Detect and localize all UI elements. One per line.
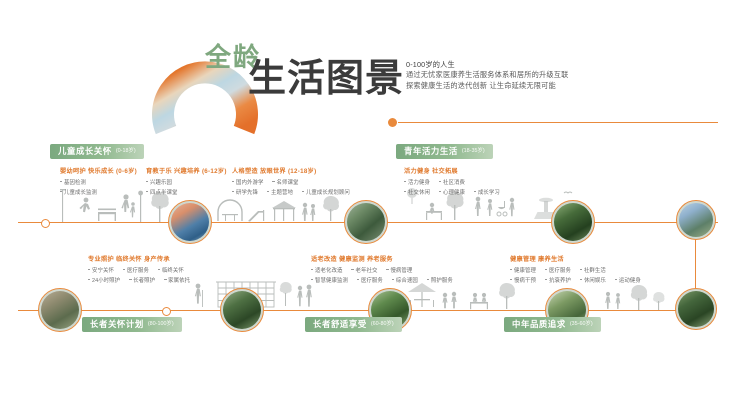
header-rule [398, 122, 718, 123]
photo-node-youth[interactable] [551, 200, 595, 244]
detail-item: 慢病管理 [386, 266, 412, 274]
header-rule-dot [388, 118, 397, 127]
detail-item: 医疗服务 [545, 266, 571, 274]
detail-block-children-0: 婴幼呵护 快乐成长 (0-6岁) 基因检测 儿童成长监测 [60, 166, 137, 196]
badge-label: 长者关怀计划 [90, 317, 144, 332]
photo-node-elder-care[interactable] [38, 288, 82, 332]
detail-item: 名师课堂 [272, 178, 298, 186]
detail-item: 安宁关怀 [88, 266, 114, 274]
detail-block-elder-care-0: 专业照护 临终关怀 身产传承 安宁关怀 医疗服务 临终关怀 24小时照护 长者照… [88, 254, 190, 284]
detail-item: 儿童成长监测 [60, 188, 97, 196]
photo-node-children[interactable] [168, 200, 212, 244]
badge-age: (80-100岁) [148, 317, 174, 332]
detail-item: 智慧健康监测 [311, 276, 348, 284]
page-title: 生活图景 [248, 58, 404, 98]
photo-node-midlife-right[interactable] [675, 288, 717, 330]
detail-heading: 适老改造 健康监测 养老服务 [311, 254, 453, 263]
detail-item: 照护服务 [427, 276, 453, 284]
detail-item: 研学先锋 [232, 188, 258, 196]
detail-item: 抗衰养护 [545, 276, 571, 284]
detail-heading: 婴幼呵护 快乐成长 (0-6岁) [60, 166, 137, 175]
detail-item: 兴趣乐园 [146, 178, 172, 186]
silhouette-group-teens [212, 192, 340, 223]
detail-item: 主题营地 [267, 188, 293, 196]
stage-badge-elder-care[interactable]: 长者关怀计划 (80-100岁) [82, 317, 182, 332]
detail-item: 医疗服务 [123, 266, 149, 274]
badge-label: 长者舒适享受 [313, 317, 367, 332]
badge-label: 中年品质追求 [512, 317, 566, 332]
stage-badge-midlife[interactable]: 中年品质追求 (35-60岁) [504, 317, 601, 332]
detail-heading: 育教于乐 兴趣培养 (6-12岁) [146, 166, 227, 175]
badge-label: 儿童成长关怀 [58, 144, 112, 159]
infographic-canvas: 全龄 生活图景 0-100岁的人生 通过无忧家医康养生活服务体系和居所的升级互联… [0, 0, 740, 416]
detail-item: 休闲娱乐 [580, 276, 606, 284]
detail-item: 长者照护 [129, 276, 155, 284]
badge-label: 青年活力生活 [404, 144, 458, 159]
detail-item: 儿童成长规划顾问 [302, 188, 350, 196]
detail-item: 国内外游学 [232, 178, 263, 186]
detail-item: 运动健身 [615, 276, 641, 284]
detail-item: 社群生活 [580, 266, 606, 274]
detail-item: 综合速园 [392, 276, 418, 284]
badge-age: (35-60岁) [570, 317, 593, 332]
detail-item: 活力健身 [404, 178, 430, 186]
photo-node-teens[interactable] [344, 200, 388, 244]
detail-item: 成长学习 [474, 188, 500, 196]
detail-item: 临终关怀 [158, 266, 184, 274]
subtitle-line-1: 0-100岁的人生 [406, 60, 596, 70]
stage-badge-children[interactable]: 儿童成长关怀 (0-18岁) [50, 144, 144, 159]
detail-block-elder-comfort-0: 适老改造 健康监测 养老服务 适老化改造 老年社交 慢病管理 智慧健康监测 医疗… [311, 254, 453, 284]
badge-age: (60-80岁) [371, 317, 394, 332]
page-subtitle: 0-100岁的人生 通过无忧家医康养生活服务体系和居所的升级互联 探索健康生活的… [406, 60, 596, 91]
stage-badge-youth[interactable]: 青年活力生活 (18-35岁) [396, 144, 493, 159]
photo-node-youth-right[interactable] [676, 200, 716, 240]
detail-item: 健康管理 [510, 266, 536, 274]
detail-heading: 健康管理 康养生活 [510, 254, 641, 263]
silhouette-group-midlife [600, 282, 674, 311]
subtitle-line-3: 探索健康生活的迭代创新 让生命延续无限可能 [406, 81, 596, 91]
detail-block-youth-0: 活力健身 社交拓展 活力健身 社区消费 社交休闲 心理健康 成长学习 [404, 166, 500, 196]
subtitle-line-2: 通过无忧家医康养生活服务体系和居所的升级互联 [406, 70, 596, 80]
detail-block-children-2: 人格塑造 放眼世界 (12-18岁) 国内外游学 名师课堂 研学先锋 主题营地 … [232, 166, 350, 196]
detail-item: 老年社交 [351, 266, 377, 274]
detail-item: 社区消费 [439, 178, 465, 186]
detail-block-midlife-0: 健康管理 康养生活 健康管理 医疗服务 社群生活 慢病干预 抗衰养护 休闲娱乐 … [510, 254, 641, 284]
timeline-rail-bottom [18, 310, 696, 311]
detail-heading: 活力健身 社交拓展 [404, 166, 500, 175]
detail-item: 家属依托 [164, 276, 190, 284]
stage-badge-elder-comfort[interactable]: 长者舒适享受 (60-80岁) [305, 317, 402, 332]
detail-item: 基因检测 [60, 178, 86, 186]
detail-item: 慢病干预 [510, 276, 536, 284]
detail-item: 心理健康 [439, 188, 465, 196]
badge-age: (0-18岁) [116, 144, 136, 159]
detail-block-children-1: 育教于乐 兴趣培养 (6-12岁) 兴趣乐园 四点半课堂 [146, 166, 227, 196]
badge-age: (18-35岁) [462, 144, 485, 159]
detail-heading: 专业照护 临终关怀 身产传承 [88, 254, 190, 263]
timeline-node-dot [41, 219, 50, 228]
detail-item: 24小时照护 [88, 276, 120, 284]
timeline-node-dot [162, 307, 171, 316]
photo-node-elder-care-2[interactable] [220, 288, 264, 332]
detail-item: 适老化改造 [311, 266, 342, 274]
detail-item: 四点半课堂 [146, 188, 177, 196]
detail-item: 医疗服务 [357, 276, 383, 284]
detail-item: 社交休闲 [404, 188, 430, 196]
detail-heading: 人格塑造 放眼世界 (12-18岁) [232, 166, 350, 175]
